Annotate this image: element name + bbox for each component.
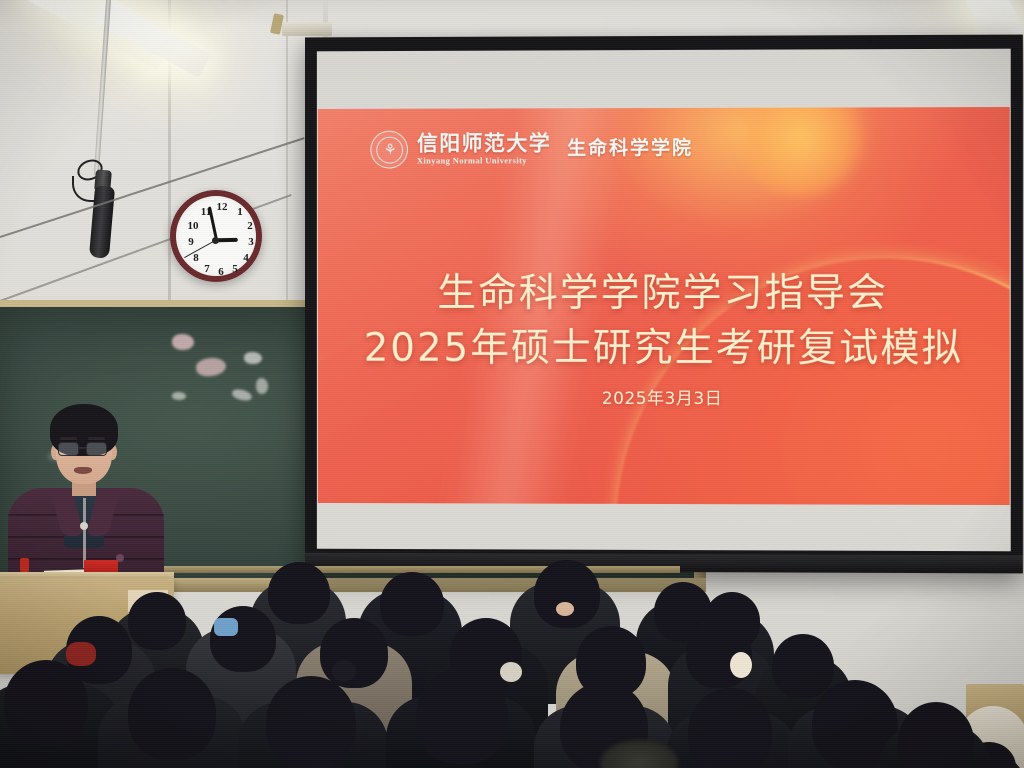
student-ear [556,602,574,616]
student-head [380,572,444,636]
student-ponytail [332,660,356,682]
clock-numeral: 10 [186,219,200,233]
clock-numeral: 3 [244,235,258,249]
student-head [688,688,772,768]
chalk-smudge [256,378,268,394]
student-head [4,660,88,746]
student-head [320,618,388,688]
emblem-glyph: ⚘ [383,142,394,157]
clock-numeral: 5 [228,262,242,276]
presenter-mouth [74,467,92,474]
projection-screen-frame: ⚘ 信阳师范大学 Xinyang Normal University 生命科学学… [305,35,1023,574]
clock-numeral: 12 [215,200,229,214]
clock-face: 12 1 2 3 4 5 6 7 8 9 10 11 [176,196,256,276]
slide-title-line-1: 生命科学学院学习指导会 [318,266,1010,322]
student-head [416,668,508,764]
student-hair-clip [214,618,238,636]
student-hair-claw-clip [66,642,96,666]
seated-students [0,556,1024,768]
student-head [128,668,216,760]
slide-title-line-2: 2025年硕士研究生考研复试模拟 [318,321,1010,377]
chalk-smudge [172,392,186,400]
student-head [534,560,600,628]
student-face [730,652,752,678]
student-head [268,562,330,624]
student-head [898,702,974,768]
chalk-smudge [172,334,194,350]
glasses-bridge [79,447,86,449]
clock-numeral: 6 [214,265,228,279]
clock-numeral: 1 [233,205,247,219]
clock-hour-hand [216,238,238,242]
university-name-cn: 信阳师范大学 [417,132,551,154]
slide-title-block: 生命科学学院学习指导会 2025年硕士研究生考研复试模拟 [318,266,1010,377]
emblem-inner-ring: ⚘ [376,136,403,163]
slide-date: 2025年3月3日 [318,384,1010,410]
glasses-lens-right-icon [86,442,107,456]
clock-center-pin [212,237,219,244]
clock-numeral: 2 [243,219,257,233]
screen-mount-rail [282,22,332,36]
chalk-smudge [244,352,262,364]
wall-clock: 12 1 2 3 4 5 6 7 8 9 10 11 [170,190,262,282]
student-hair-accessory [500,662,522,682]
sun-glow-decoration [734,107,867,198]
classroom-photo: 12 1 2 3 4 5 6 7 8 9 10 11 [0,0,1024,768]
student-head [772,634,834,698]
university-emblem-icon: ⚘ [370,131,408,169]
student-head [210,606,276,672]
presentation-slide: ⚘ 信阳师范大学 Xinyang Normal University 生命科学学… [318,107,1010,505]
student-head [128,592,186,650]
presenter-eyebrow-left [60,437,77,440]
glasses-lens-left-icon [58,442,79,456]
wall-seam-right [286,0,288,300]
slide-logo-lockup: ⚘ 信阳师范大学 Xinyang Normal University 生命科学学… [370,130,693,169]
clock-numeral: 9 [184,235,198,249]
university-name-block: 信阳师范大学 Xinyang Normal University [417,132,551,166]
university-name-en: Xinyang Normal University [417,155,551,166]
college-name-cn: 生命科学学院 [567,133,693,160]
jacket-zipper-pull [80,522,88,530]
student-head [266,676,356,768]
presenter-eyebrow-right [88,437,105,440]
